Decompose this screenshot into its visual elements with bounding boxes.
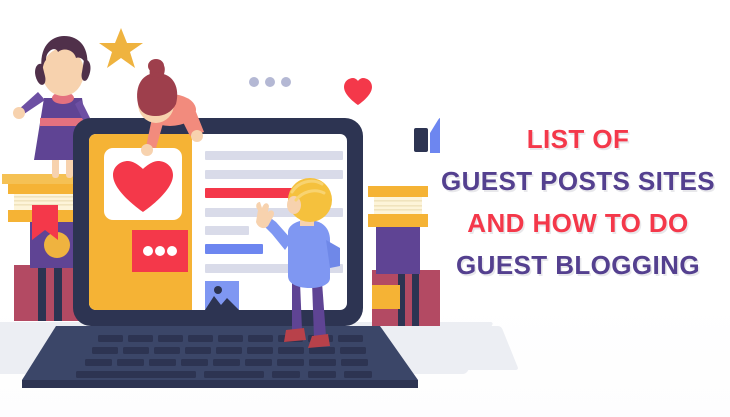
headline-line-1: LIST OF — [432, 126, 724, 152]
illustration — [0, 0, 440, 417]
poster-canvas: LIST OF GUEST POSTS SITES AND HOW TO DO … — [0, 0, 730, 417]
headline-line-4: GUEST BLOGGING — [432, 252, 724, 278]
headline-line-3: AND HOW TO DO — [432, 210, 724, 236]
heart-icon-floating — [344, 78, 372, 105]
headline-block: LIST OF GUEST POSTS SITES AND HOW TO DO … — [432, 126, 724, 278]
headline-line-2: GUEST POSTS SITES — [432, 168, 724, 194]
laptop — [22, 118, 418, 388]
book-stack-right — [368, 186, 440, 326]
laptop-base-edge — [22, 380, 418, 388]
three-dots-icon — [249, 77, 291, 87]
screen-image-placeholder — [205, 281, 239, 310]
star-icon — [99, 28, 143, 68]
